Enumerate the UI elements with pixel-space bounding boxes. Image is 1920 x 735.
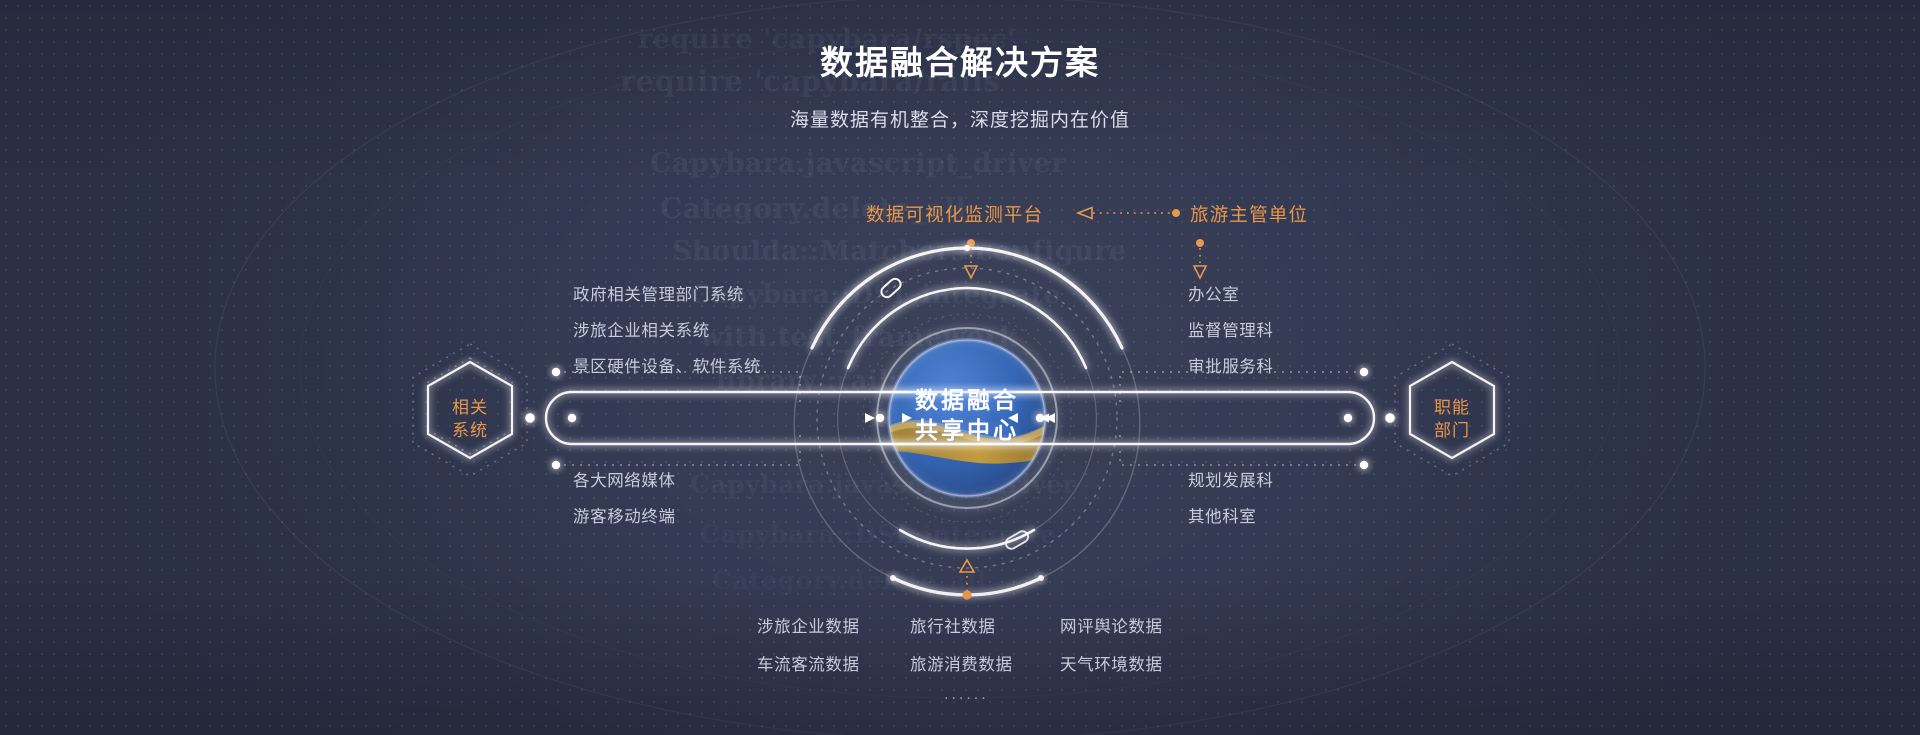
bottom-item-1-2: 天气环境数据: [1060, 651, 1163, 675]
left-item-4: 游客移动终端: [573, 503, 676, 527]
center-line1: 数据融合: [867, 385, 1067, 415]
right-item-4: 其他科室: [1188, 503, 1256, 527]
left-item-1: 涉旅企业相关系统: [573, 317, 710, 341]
hexagon-right-label: 职能 部门: [1410, 396, 1494, 442]
bottom-item-0-0: 涉旅企业数据: [757, 613, 860, 637]
hexagon-right-line1: 职能: [1410, 396, 1494, 419]
left-item-3: 各大网络媒体: [573, 467, 676, 491]
page-subtitle: 海量数据有机整合，深度挖掘内在价值: [0, 105, 1920, 132]
label-tourism-authority[interactable]: 旅游主管单位: [1190, 201, 1308, 227]
bottom-ellipsis: ......: [944, 686, 989, 704]
right-item-0: 办公室: [1188, 281, 1239, 305]
right-item-3: 规划发展科: [1188, 467, 1274, 491]
left-item-0: 政府相关管理部门系统: [573, 281, 744, 305]
bottom-item-0-1: 旅行社数据: [910, 613, 996, 637]
label-visualization-platform[interactable]: 数据可视化监测平台: [866, 201, 1043, 227]
hexagon-left-label: 相关 系统: [428, 396, 512, 442]
hexagon-left-line1: 相关: [428, 396, 512, 419]
center-hub-label: 数据融合 共享中心: [867, 385, 1067, 445]
bottom-item-0-2: 网评舆论数据: [1060, 613, 1163, 637]
left-item-2: 景区硬件设备、软件系统: [573, 353, 761, 377]
right-item-2: 审批服务科: [1188, 353, 1274, 377]
hexagon-right-line2: 部门: [1410, 419, 1494, 442]
hexagon-left-line2: 系统: [428, 419, 512, 442]
bottom-item-1-1: 旅游消费数据: [910, 651, 1013, 675]
center-line2: 共享中心: [867, 415, 1067, 445]
page-title: 数据融合解决方案: [0, 36, 1920, 84]
bottom-item-1-0: 车流客流数据: [757, 651, 860, 675]
right-item-1: 监督管理科: [1188, 317, 1274, 341]
